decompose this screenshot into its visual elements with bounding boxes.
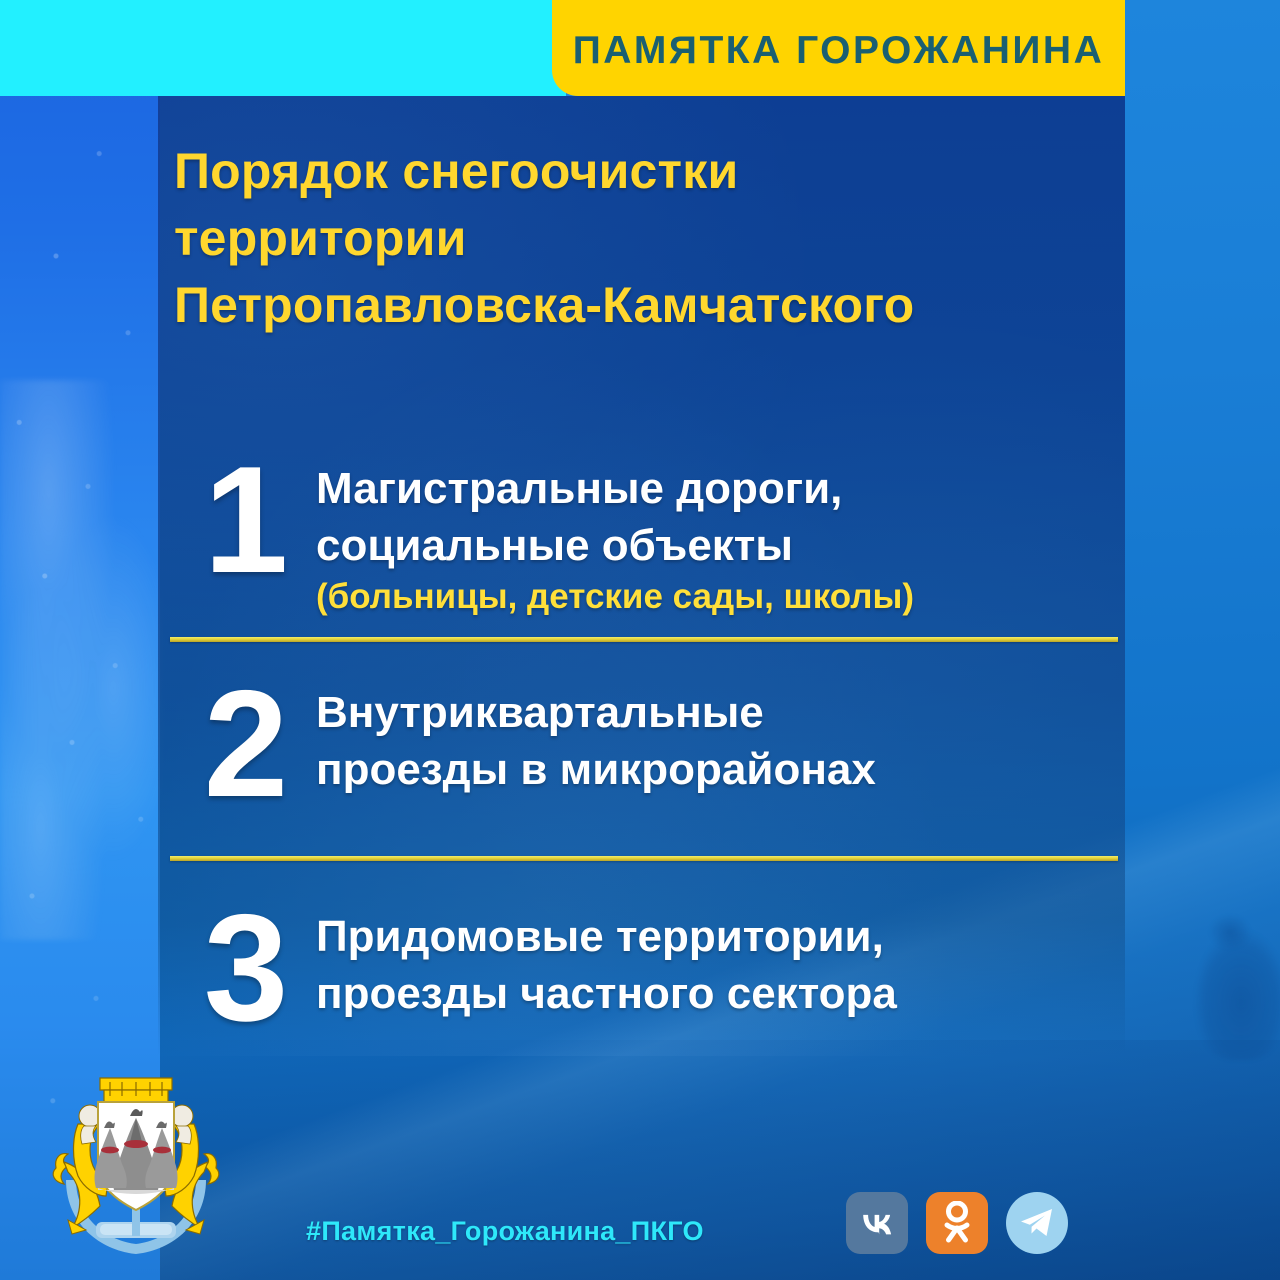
list-divider-2	[170, 856, 1118, 861]
hashtag[interactable]: #Памятка_Горожанина_ПКГО	[306, 1216, 704, 1247]
infographic-poster: ПАМЯТКА ГОРОЖАНИНА Порядок снегоочистки …	[0, 0, 1280, 1280]
priority-text-1-line-2: социальные объекты	[316, 517, 1126, 574]
priority-text-3-line-2: проезды частного сектора	[316, 965, 1126, 1022]
priority-text-2-line-1: Внутриквартальные	[316, 684, 1126, 741]
coat-of-arms-icon	[38, 1072, 234, 1268]
priority-text-3-line-1: Придомовые территории,	[316, 908, 1126, 965]
background-snowy-bush	[1195, 930, 1280, 1060]
background-left-snow-texture	[0, 380, 162, 940]
page-title-line-3: Петропавловска-Камчатского	[174, 272, 1114, 339]
priority-text-2-line-2: проезды в микрорайонах	[316, 741, 1126, 798]
priority-item-2: 2 Внутриквартальные проезды в микрорайон…	[176, 672, 1126, 816]
priority-body-1: Магистральные дороги, социальные объекты…	[316, 448, 1126, 618]
priority-item-3: 3 Придомовые территории, проезды частног…	[176, 896, 1126, 1040]
header-badge-label: ПАМЯТКА ГОРОЖАНИНА	[573, 23, 1105, 73]
priority-number-3: 3	[176, 896, 316, 1040]
telegram-icon[interactable]	[1006, 1192, 1068, 1254]
page-title-line-2: территории	[174, 205, 1114, 272]
priority-text-1: Магистральные дороги, социальные объекты	[316, 460, 1126, 574]
priority-body-3: Придомовые территории, проезды частного …	[316, 896, 1126, 1022]
odnoklassniki-icon[interactable]	[926, 1192, 988, 1254]
list-divider-1	[170, 637, 1118, 642]
background-snowy-bush-top	[1210, 915, 1250, 949]
priority-text-1-line-1: Магистральные дороги,	[316, 460, 1126, 517]
page-title-line-1: Порядок снегоочистки	[174, 138, 1114, 205]
header-badge: ПАМЯТКА ГОРОЖАНИНА	[552, 0, 1125, 96]
priority-number-1: 1	[176, 448, 316, 592]
page-title: Порядок снегоочистки территории Петропав…	[174, 138, 1114, 339]
priority-subtext-1: (больницы, детские сады, школы)	[316, 576, 1126, 618]
vk-icon[interactable]	[846, 1192, 908, 1254]
priority-text-3: Придомовые территории, проезды частного …	[316, 908, 1126, 1022]
header-accent-strip	[0, 0, 566, 96]
priority-item-1: 1 Магистральные дороги, социальные объек…	[176, 448, 1126, 618]
priority-body-2: Внутриквартальные проезды в микрорайонах	[316, 672, 1126, 798]
priority-number-2: 2	[176, 672, 316, 816]
priority-text-2: Внутриквартальные проезды в микрорайонах	[316, 684, 1126, 798]
social-links	[846, 1192, 1068, 1254]
